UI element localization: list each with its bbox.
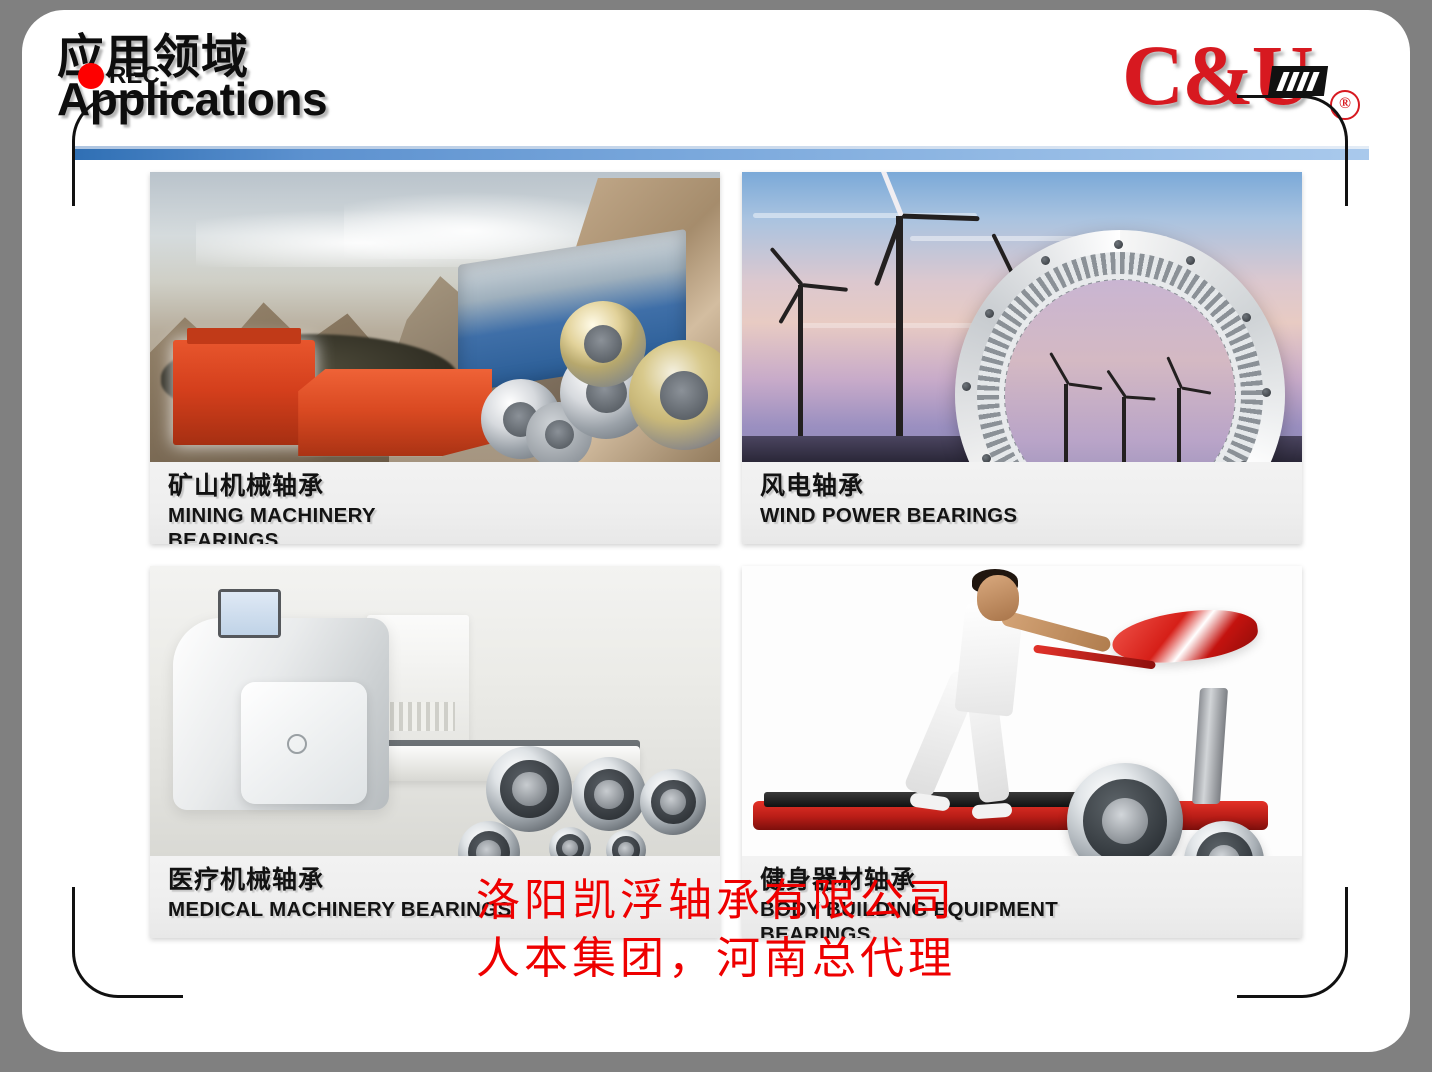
application-card-mining[interactable]: 矿山机械轴承 MINING MACHINERY BEARINGS — [150, 172, 720, 544]
slide-header: 应用领域 Applications REC C&U ® — [22, 10, 1410, 170]
card-caption: 风电轴承 WIND POWER BEARINGS — [742, 462, 1302, 544]
card-title-english: WIND POWER BEARINGS — [760, 503, 1302, 529]
record-label: REC — [109, 62, 160, 90]
application-card-body-building[interactable]: 健身器材轴承 BODY BUILDING EQUIPMENT BEARINGS — [742, 566, 1302, 938]
cu-brand-logo: C&U ® — [1122, 38, 1372, 136]
card-caption: 医疗机械轴承 MEDICAL MACHINERY BEARINGS — [150, 856, 720, 938]
application-card-medical[interactable]: 医疗机械轴承 MEDICAL MACHINERY BEARINGS — [150, 566, 720, 938]
registered-trademark-icon: ® — [1330, 90, 1360, 120]
card-title-chinese: 风电轴承 — [760, 472, 1302, 501]
header-rule — [72, 149, 1369, 160]
card-title-chinese: 健身器材轴承 — [760, 866, 1302, 895]
record-dot-icon — [78, 63, 104, 89]
medical-machinery-photo — [150, 566, 720, 856]
card-caption: 健身器材轴承 BODY BUILDING EQUIPMENT BEARINGS — [742, 856, 1302, 938]
presentation-slide: 应用领域 Applications REC C&U ® — [22, 10, 1410, 1052]
logo-bars-icon — [1268, 66, 1328, 96]
application-card-grid: 矿山机械轴承 MINING MACHINERY BEARINGS — [150, 172, 1302, 954]
application-card-wind-power[interactable]: 风电轴承 WIND POWER BEARINGS — [742, 172, 1302, 544]
card-title-english: MEDICAL MACHINERY BEARINGS — [168, 897, 720, 923]
mining-machinery-photo — [150, 172, 720, 462]
card-caption: 矿山机械轴承 MINING MACHINERY BEARINGS — [150, 462, 720, 544]
card-title-chinese: 矿山机械轴承 — [168, 472, 720, 501]
recording-indicator: REC — [78, 62, 160, 90]
card-title-english: BODY BUILDING EQUIPMENT BEARINGS — [760, 897, 1302, 938]
body-building-photo — [742, 566, 1302, 856]
card-title-english: MINING MACHINERY BEARINGS — [168, 503, 720, 544]
wind-power-photo — [742, 172, 1302, 462]
card-title-chinese: 医疗机械轴承 — [168, 866, 720, 895]
